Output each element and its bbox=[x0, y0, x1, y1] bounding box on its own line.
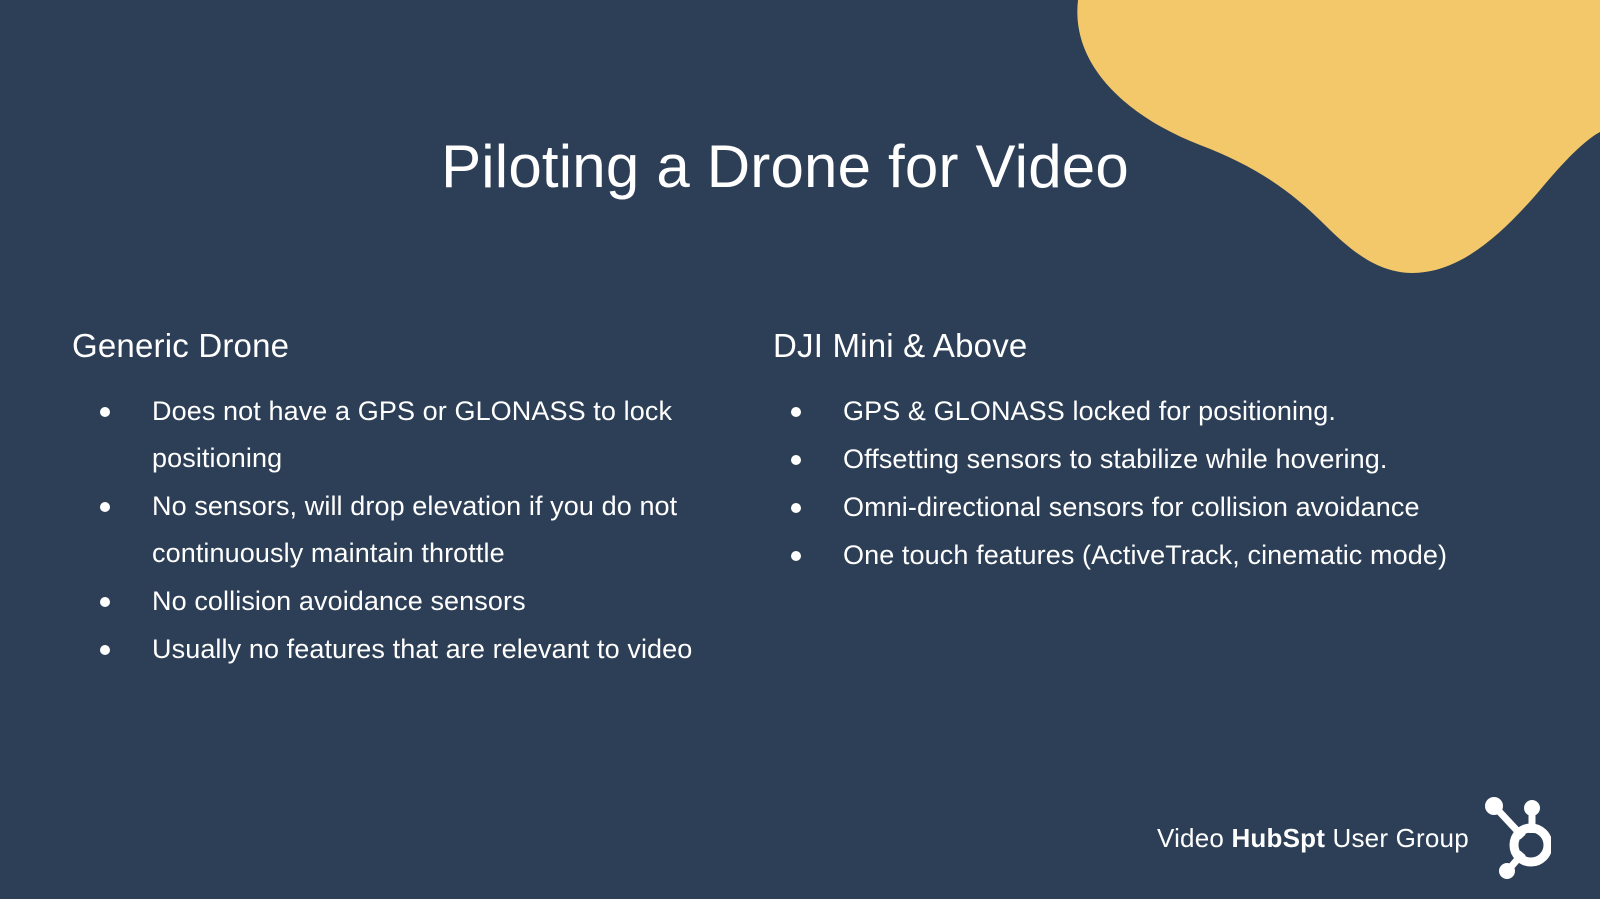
list-item-text: No sensors, will drop elevation if you d… bbox=[152, 491, 677, 568]
bullet-list-generic-drone: Does not have a GPS or GLONASS to lock p… bbox=[72, 388, 740, 673]
column-dji-mini-above: DJI Mini & Above GPS & GLONASS locked fo… bbox=[740, 325, 1530, 674]
column-heading-generic-drone: Generic Drone bbox=[72, 325, 740, 366]
list-item: No collision avoidance sensors bbox=[72, 578, 740, 625]
footer-prefix: Video bbox=[1157, 823, 1231, 853]
list-item: No sensors, will drop elevation if you d… bbox=[72, 483, 740, 577]
list-item: Usually no features that are relevant to… bbox=[72, 626, 740, 673]
list-item: One touch features (ActiveTrack, cinemat… bbox=[773, 532, 1523, 579]
list-item-text: Usually no features that are relevant to… bbox=[152, 634, 692, 664]
bullet-list-dji-mini-above: GPS & GLONASS locked for positioning. Of… bbox=[773, 388, 1530, 579]
bullet-dot-icon bbox=[791, 551, 801, 561]
bullet-dot-icon bbox=[791, 503, 801, 513]
list-item-text: One touch features (ActiveTrack, cinemat… bbox=[843, 540, 1447, 570]
list-item: GPS & GLONASS locked for positioning. bbox=[773, 388, 1523, 435]
footer-text: Video HubSpt User Group bbox=[1157, 825, 1469, 851]
bullet-dot-icon bbox=[791, 455, 801, 465]
column-heading-dji-mini-above: DJI Mini & Above bbox=[773, 325, 1530, 366]
list-item: Does not have a GPS or GLONASS to lock p… bbox=[72, 388, 740, 482]
list-item-text: No collision avoidance sensors bbox=[152, 586, 526, 616]
list-item-text: Offsetting sensors to stabilize while ho… bbox=[843, 444, 1387, 474]
bullet-dot-icon bbox=[100, 502, 110, 512]
bullet-dot-icon bbox=[100, 597, 110, 607]
footer-brand-lockup: Video HubSpt User Group bbox=[1157, 795, 1551, 881]
list-item: Offsetting sensors to stabilize while ho… bbox=[773, 436, 1523, 483]
bullet-dot-icon bbox=[791, 407, 801, 417]
page-title: Piloting a Drone for Video bbox=[0, 134, 1570, 200]
bullet-dot-icon bbox=[100, 407, 110, 417]
footer-suffix: User Group bbox=[1325, 823, 1469, 853]
column-generic-drone: Generic Drone Does not have a GPS or GLO… bbox=[0, 325, 740, 674]
footer-brand-name: HubSp bbox=[1231, 823, 1316, 853]
list-item: Omni-directional sensors for collision a… bbox=[773, 484, 1523, 531]
slide: Piloting a Drone for Video Generic Drone… bbox=[0, 0, 1600, 899]
content-columns: Generic Drone Does not have a GPS or GLO… bbox=[0, 325, 1600, 674]
hubspot-sprocket-icon bbox=[1479, 795, 1551, 881]
list-item-text: GPS & GLONASS locked for positioning. bbox=[843, 396, 1336, 426]
list-item-text: Omni-directional sensors for collision a… bbox=[843, 492, 1420, 522]
list-item-text: Does not have a GPS or GLONASS to lock p… bbox=[152, 396, 672, 473]
footer-brand-name-tail: t bbox=[1316, 823, 1325, 853]
bullet-dot-icon bbox=[100, 645, 110, 655]
